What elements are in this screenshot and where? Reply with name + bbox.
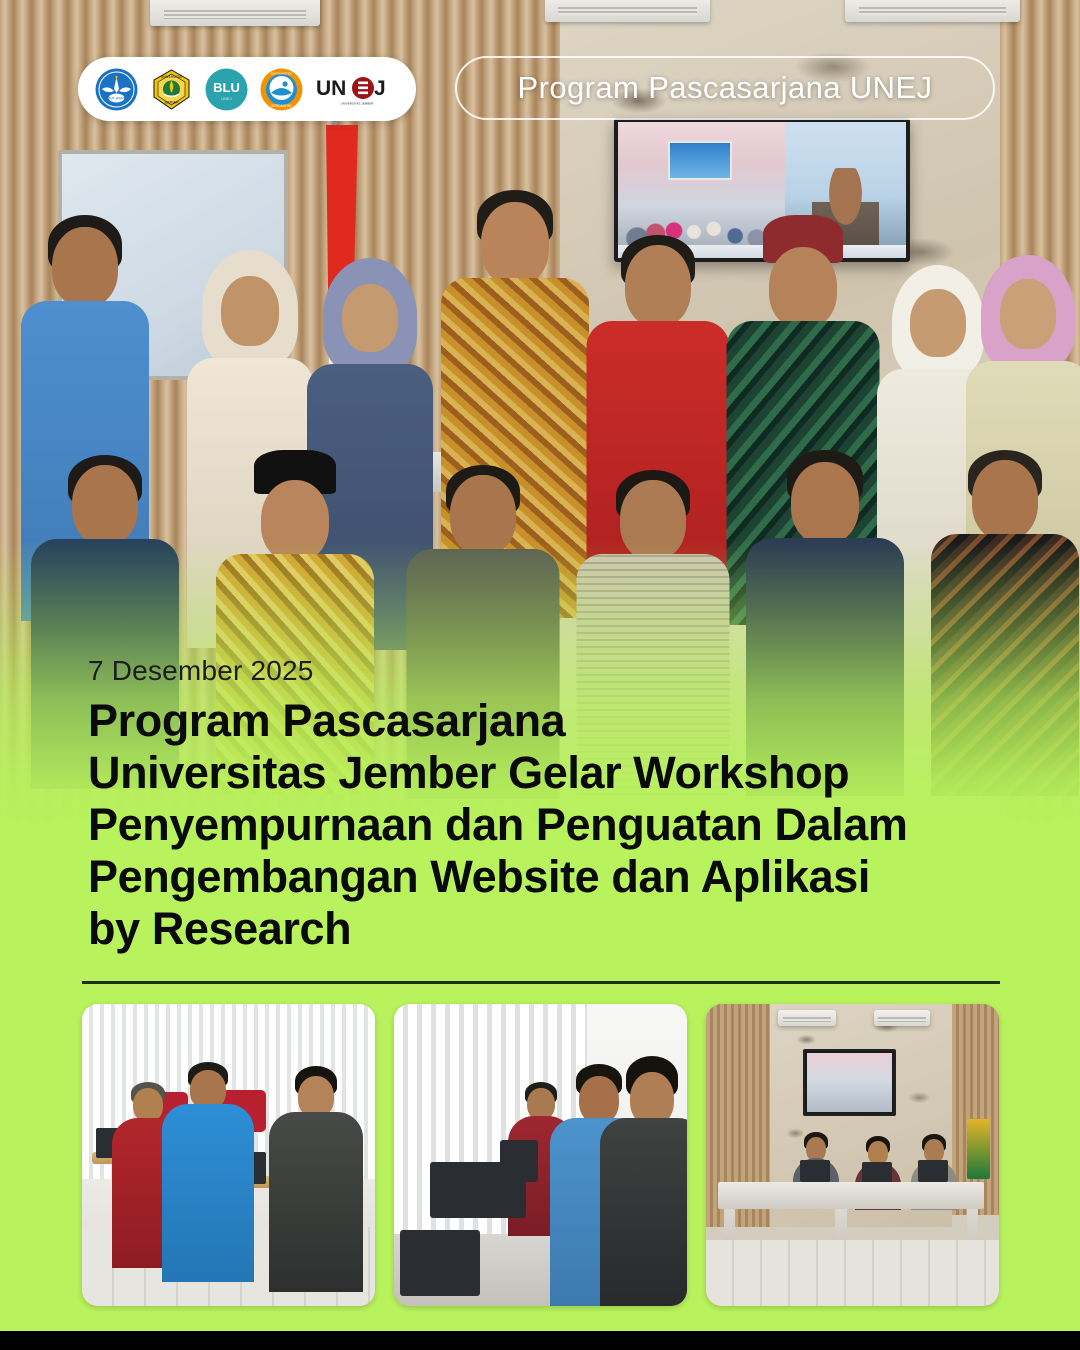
poster-root: TUT WURI UNIVERSITAS JEMBER BLU UNEJ <box>0 0 1080 1350</box>
thumbnail-participants-laptops[interactable] <box>394 1004 687 1306</box>
svg-text:UNIVERSITAS: UNIVERSITAS <box>161 75 182 79</box>
header-title-text: Program Pascasarjana UNEJ <box>518 70 933 106</box>
tut-wuri-handayani-logo: TUT WURI <box>94 67 139 112</box>
head <box>342 284 398 352</box>
air-conditioner-icon <box>778 1010 836 1026</box>
headline-line: Program Pascasarjana <box>88 695 1028 747</box>
diktisaintek-berdampak-logo: DIKTISAINTEK BERDAMPAK <box>259 67 304 112</box>
thumbnail-gallery <box>82 1004 1000 1306</box>
wall-tv <box>803 1049 897 1115</box>
laptop <box>800 1160 830 1182</box>
head <box>625 245 691 327</box>
unej-wordmark-logo: UN J UNIVERSITAS JEMBER <box>314 67 400 112</box>
air-conditioner-icon <box>845 0 1020 22</box>
air-conditioner-icon <box>150 0 320 26</box>
headline-line: Universitas Jember Gelar Workshop <box>88 747 1028 799</box>
participant <box>160 1062 256 1272</box>
svg-text:UNEJ: UNEJ <box>221 96 231 101</box>
svg-text:DIKTISAINTEK: DIKTISAINTEK <box>271 71 293 75</box>
head <box>133 1088 163 1122</box>
head <box>1000 279 1056 349</box>
head <box>52 227 118 307</box>
head <box>481 202 549 286</box>
svg-text:TUT WURI: TUT WURI <box>108 96 125 100</box>
blazer <box>269 1112 363 1292</box>
universitas-jember-logo: UNIVERSITAS JEMBER <box>149 67 194 112</box>
thumbnail-classroom-participants[interactable] <box>82 1004 375 1306</box>
thumb3-floor <box>706 1240 999 1306</box>
bottom-bar <box>0 1331 1080 1350</box>
head <box>620 480 686 560</box>
headline-line: by Research <box>88 903 1028 955</box>
laptop <box>918 1160 948 1182</box>
article-text-block: 7 Desember 2025 Program Pascasarjana Uni… <box>88 655 1028 955</box>
head <box>221 276 279 346</box>
panel-desk <box>718 1182 985 1209</box>
publish-date: 7 Desember 2025 <box>88 655 1028 687</box>
svg-text:BERDAMPAK: BERDAMPAK <box>271 104 292 108</box>
svg-text:BLU: BLU <box>213 80 240 95</box>
svg-text:UN: UN <box>316 77 346 100</box>
blu-logo: BLU UNEJ <box>204 67 249 112</box>
head <box>261 480 329 562</box>
blazer <box>600 1118 688 1306</box>
blue-shirt <box>162 1104 254 1282</box>
headline: Program Pascasarjana Universitas Jember … <box>88 695 1028 955</box>
svg-text:UNIVERSITAS JEMBER: UNIVERSITAS JEMBER <box>341 101 375 105</box>
headline-line: Pengembangan Website dan Aplikasi <box>88 851 1028 903</box>
laptop <box>862 1162 892 1184</box>
air-conditioner-icon <box>545 0 710 22</box>
head <box>791 462 859 544</box>
section-divider <box>82 981 1000 984</box>
thumbnail-panel-desk-presentation[interactable] <box>706 1004 999 1306</box>
participant <box>267 1066 365 1281</box>
tv-screen-content <box>807 1053 893 1111</box>
head <box>910 289 966 357</box>
head <box>450 475 516 555</box>
air-conditioner-icon <box>874 1010 930 1026</box>
header-title-pill: Program Pascasarjana UNEJ <box>455 56 995 120</box>
participant <box>599 1056 687 1306</box>
standing-banner <box>967 1119 990 1179</box>
tablet <box>400 1230 480 1296</box>
svg-text:J: J <box>374 77 386 100</box>
head <box>72 465 138 545</box>
laptop <box>430 1162 526 1218</box>
headline-line: Penyempurnaan dan Penguatan Dalam <box>88 799 1028 851</box>
logo-bar: TUT WURI UNIVERSITAS JEMBER BLU UNEJ <box>78 57 416 121</box>
head <box>769 247 837 329</box>
svg-text:JEMBER: JEMBER <box>164 100 179 104</box>
head <box>972 460 1038 540</box>
